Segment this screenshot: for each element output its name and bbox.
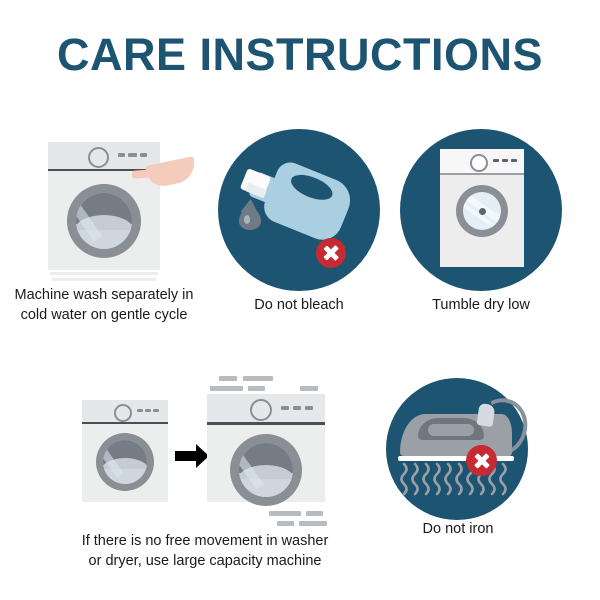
small-washer-icon: [82, 400, 168, 502]
caption-tumble-dry-low: Tumble dry low: [401, 296, 561, 316]
dryer-button-icon: [511, 159, 517, 162]
caption-large-capacity: If there is no free movement in washer o…: [55, 532, 355, 571]
small-washer-button-icon: [137, 409, 143, 412]
small-washer-dial-icon: [114, 404, 132, 422]
washer-door-icon: [67, 184, 141, 258]
tumble-dryer-icon: [440, 149, 524, 267]
washer-base-shadow: [50, 272, 158, 275]
dryer-center-dot: [479, 208, 486, 215]
vibration-dash: [269, 511, 301, 516]
large-washer-icon: [207, 394, 325, 502]
vibration-dash: [243, 376, 273, 381]
washer-door-glass: [76, 193, 132, 249]
caption-do-not-bleach: Do not bleach: [219, 296, 379, 316]
large-washer-door-glass: [239, 443, 293, 497]
dryer-door-icon: [456, 185, 508, 237]
drum-shade-lower: [239, 479, 293, 497]
small-washer-divider: [82, 422, 168, 424]
washer-dial-icon: [88, 147, 109, 168]
iron-handle-hole: [428, 424, 474, 436]
large-washer-button-icon: [293, 406, 301, 410]
dryer-button-icon: [493, 159, 499, 162]
droplet-shine: [244, 215, 250, 224]
vibration-dash: [248, 386, 265, 391]
arrow-right-icon: [175, 444, 211, 468]
drum-shade-lower: [103, 469, 147, 484]
caption-machine-wash: Machine wash separately in cold water on…: [0, 286, 208, 325]
large-washer-divider: [207, 422, 325, 425]
iron-steam-knob: [477, 403, 496, 427]
vibration-dash: [210, 386, 243, 391]
vibration-dash: [300, 386, 318, 391]
small-washer-door-glass: [103, 440, 147, 484]
washer-button-icon: [118, 153, 125, 157]
large-washer-door-icon: [230, 434, 302, 506]
care-instructions-infographic: CARE INSTRUCTIONS: [0, 0, 600, 600]
small-washer-door-icon: [96, 433, 154, 491]
drum-shade-lower: [76, 230, 132, 249]
x-mark-badge: [466, 445, 497, 476]
large-washer-button-icon: [281, 406, 289, 410]
x-mark-badge: [316, 238, 346, 268]
small-washer-button-icon: [153, 409, 159, 412]
vibration-dash: [277, 521, 294, 526]
arrow-shaft: [175, 451, 197, 461]
caption-do-not-iron: Do not iron: [387, 520, 529, 540]
dryer-panel-divider: [440, 173, 524, 175]
large-washer-dial-icon: [250, 399, 272, 421]
dryer-dial-icon: [470, 154, 488, 172]
pointing-hand-icon: [132, 156, 194, 190]
bleach-droplet-icon: [239, 208, 261, 230]
dryer-button-icon: [502, 159, 508, 162]
page-title: CARE INSTRUCTIONS: [0, 32, 600, 77]
washer-base-shadow: [52, 278, 156, 281]
vibration-dash: [299, 521, 327, 526]
hand-index-finger: [132, 169, 155, 179]
vibration-dash: [306, 511, 323, 516]
steam-lines-icon: [398, 462, 514, 498]
small-washer-button-icon: [145, 409, 151, 412]
large-washer-button-icon: [305, 406, 313, 410]
vibration-dash: [219, 376, 237, 381]
